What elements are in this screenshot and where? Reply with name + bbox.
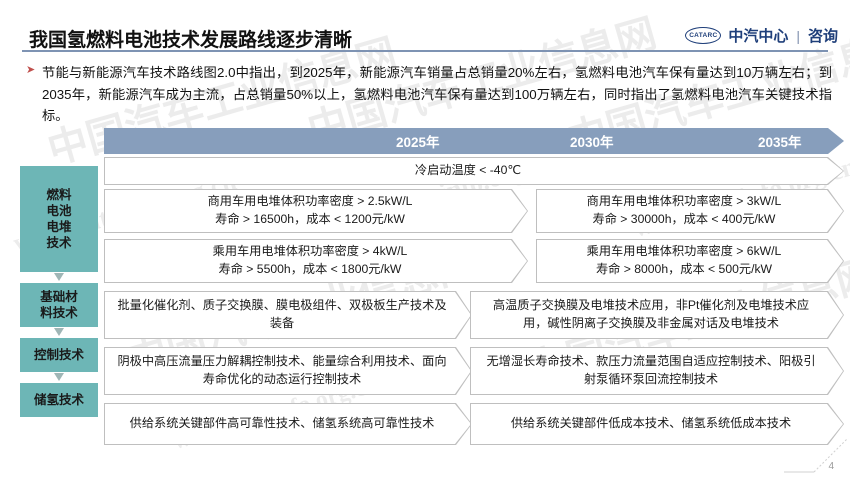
cell-text: 乘用车用电堆体积功率密度 > 4kW/L 寿命 > 5500h，成本 < 180… — [104, 239, 528, 283]
stage-connector-arrow-icon — [20, 327, 98, 338]
cell-hydrogen-storage-2035[interactable]: 供给系统关键部件低成本技术、储氢系统低成本技术 — [470, 403, 844, 445]
page-number: 4 — [828, 461, 834, 472]
year-header-bar: 2025年 2030年 2035年 — [104, 128, 844, 154]
roadmap-grid: 2025年 2030年 2035年 冷启动温度 < -40℃ 商用车用电堆体积功… — [104, 128, 844, 445]
cell-text: 高温质子交换膜及电堆技术应用，非Pt催化剂及电堆技术应用，碱性阴离子交换膜及非金… — [470, 291, 844, 339]
stage-column: 燃料电池电堆技术 基础材料技术 控制技术 储氢技术 — [20, 166, 98, 417]
cell-text: 供给系统关键部件高可靠性技术、储氢系统高可靠性技术 — [104, 403, 472, 445]
cell-text: 无增湿长寿命技术、款压力流量范围自适应控制技术、阳极引射泵循环泵回流控制技术 — [470, 347, 844, 395]
cell-base-materials-2035[interactable]: 高温质子交换膜及电堆技术应用，非Pt催化剂及电堆技术应用，碱性阴离子交换膜及非金… — [470, 291, 844, 339]
page-title: 我国氢燃料电池技术发展路线逐步清晰 — [29, 25, 352, 52]
stage-box-fuel-cell-stack[interactable]: 燃料电池电堆技术 — [20, 166, 98, 272]
cell-text-inner: 商用车用电堆体积功率密度 > 3kW/L 寿命 > 30000h，成本 < 40… — [587, 193, 782, 228]
roadmap-row: 阴极中高压流量压力解耦控制技术、能量综合利用技术、面向寿命优化的动态运行控制技术… — [104, 347, 844, 395]
stage-box-control-tech[interactable]: 控制技术 — [20, 338, 98, 372]
cell-base-materials-2025[interactable]: 批量化催化剂、质子交换膜、膜电极组件、双极板生产技术及装备 — [104, 291, 472, 339]
roadmap-chart: 燃料电池电堆技术 基础材料技术 控制技术 储氢技术 2025年 2030年 20… — [0, 128, 850, 468]
cell-passenger-stack-2035[interactable]: 乘用车用电堆体积功率密度 > 6kW/L 寿命 > 8000h，成本 < 500… — [536, 239, 844, 283]
cell-text: 商用车用电堆体积功率密度 > 3kW/L 寿命 > 30000h，成本 < 40… — [536, 189, 844, 233]
brand-separator: | — [796, 28, 800, 44]
bullet-text: 节能与新能源汽车技术路线图2.0中指出，到2025年，新能源汽车销量占总销量20… — [42, 62, 832, 127]
stage-label: 控制技术 — [34, 347, 84, 363]
stage-label: 储氢技术 — [34, 392, 84, 408]
stage-label: 燃料电池电堆技术 — [46, 187, 71, 251]
cell-text: 阴极中高压流量压力解耦控制技术、能量综合利用技术、面向寿命优化的动态运行控制技术 — [104, 347, 472, 395]
cell-text: 冷启动温度 < -40℃ — [104, 157, 844, 185]
cell-control-tech-2025[interactable]: 阴极中高压流量压力解耦控制技术、能量综合利用技术、面向寿命优化的动态运行控制技术 — [104, 347, 472, 395]
stage-box-hydrogen-storage[interactable]: 储氢技术 — [20, 383, 98, 417]
cell-cold-start-temperature[interactable]: 冷启动温度 < -40℃ — [104, 157, 844, 185]
catarc-logo-icon: CATARC — [685, 27, 721, 44]
cell-text: 批量化催化剂、质子交换膜、膜电极组件、双极板生产技术及装备 — [104, 291, 472, 339]
roadmap-row: 商用车用电堆体积功率密度 > 2.5kW/L 寿命 > 16500h，成本 < … — [104, 189, 844, 233]
slide-header: 我国氢燃料电池技术发展路线逐步清晰 CATARC 中汽中心 | 咨询 — [0, 0, 850, 52]
cell-hydrogen-storage-2025[interactable]: 供给系统关键部件高可靠性技术、储氢系统高可靠性技术 — [104, 403, 472, 445]
cell-text: 乘用车用电堆体积功率密度 > 6kW/L 寿命 > 8000h，成本 < 500… — [536, 239, 844, 283]
brand-logo: CATARC 中汽中心 | 咨询 — [685, 25, 838, 46]
cell-commercial-stack-2035[interactable]: 商用车用电堆体积功率密度 > 3kW/L 寿命 > 30000h，成本 < 40… — [536, 189, 844, 233]
cell-control-tech-2035[interactable]: 无增湿长寿命技术、款压力流量范围自适应控制技术、阳极引射泵循环泵回流控制技术 — [470, 347, 844, 395]
cell-text: 供给系统关键部件低成本技术、储氢系统低成本技术 — [470, 403, 844, 445]
roadmap-row: 供给系统关键部件高可靠性技术、储氢系统高可靠性技术 供给系统关键部件低成本技术、… — [104, 403, 844, 445]
header-divider — [22, 50, 828, 52]
stage-label: 基础材料技术 — [40, 289, 78, 321]
brand-name: 中汽中心 — [728, 25, 788, 46]
cell-text-inner: 乘用车用电堆体积功率密度 > 6kW/L 寿命 > 8000h，成本 < 500… — [587, 243, 782, 278]
summary-bullet: ➤ 节能与新能源汽车技术路线图2.0中指出，到2025年，新能源汽车销量占总销量… — [26, 62, 832, 127]
stage-connector-arrow-icon — [20, 272, 98, 283]
cell-passenger-stack-2025[interactable]: 乘用车用电堆体积功率密度 > 4kW/L 寿命 > 5500h，成本 < 180… — [104, 239, 528, 283]
stage-box-base-materials[interactable]: 基础材料技术 — [20, 283, 98, 327]
roadmap-row: 批量化催化剂、质子交换膜、膜电极组件、双极板生产技术及装备 高温质子交换膜及电堆… — [104, 291, 844, 339]
cell-commercial-stack-2025[interactable]: 商用车用电堆体积功率密度 > 2.5kW/L 寿命 > 16500h，成本 < … — [104, 189, 528, 233]
year-column-2035: 2035年 — [758, 131, 802, 151]
year-column-2030: 2030年 — [570, 131, 614, 151]
year-column-2025: 2025年 — [396, 131, 440, 151]
slide-canvas: 中国汽车工业信息网 中国汽车工业信息网 中国汽车工业信息网 www.autoin… — [0, 0, 850, 478]
roadmap-row: 乘用车用电堆体积功率密度 > 4kW/L 寿命 > 5500h，成本 < 180… — [104, 239, 844, 283]
cell-text: 商用车用电堆体积功率密度 > 2.5kW/L 寿命 > 16500h，成本 < … — [104, 189, 528, 233]
bullet-arrow-icon: ➤ — [26, 62, 42, 127]
brand-subtitle: 咨询 — [808, 25, 838, 46]
stage-connector-arrow-icon — [20, 372, 98, 383]
